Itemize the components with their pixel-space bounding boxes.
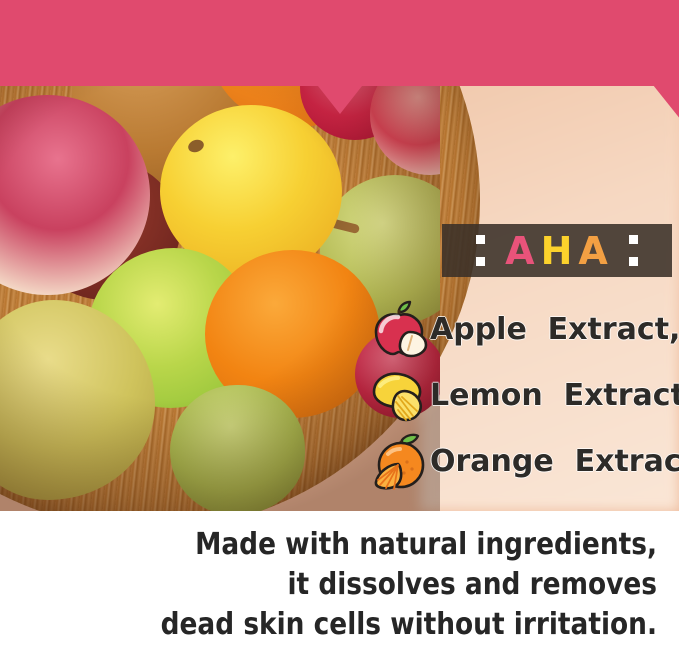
aha-letter-a1: A (505, 232, 535, 270)
description-block: Made with natural ingredients, it dissol… (0, 511, 679, 655)
dot-icon (629, 235, 638, 244)
dot-icon (629, 257, 638, 266)
list-item: Apple Extract, (368, 296, 679, 362)
aha-letters: A H A (505, 232, 609, 270)
aha-letter-h: H (541, 232, 574, 270)
ingredient-label: Orange Extract (430, 444, 679, 479)
list-item: Lemon Extract, (368, 362, 679, 428)
orange-icon (368, 432, 430, 490)
ingredient-label: Apple Extract, (430, 312, 679, 347)
description-line-1: Made with natural ingredients, (79, 525, 657, 565)
ingredient-label: Lemon Extract, (430, 378, 679, 413)
header-pointer-triangle (318, 86, 362, 114)
header-band (0, 0, 679, 86)
description-line-3: dead skin cells without irritation. (79, 605, 657, 645)
description-line-2: it dissolves and removes (79, 565, 657, 605)
dot-icon (476, 257, 485, 266)
green-pear-fruit-2 (170, 385, 305, 511)
ingredient-list: Apple Extract, Lemon Extract, (368, 296, 679, 494)
apple-icon (368, 300, 430, 358)
list-item: Orange Extract (368, 428, 679, 494)
lemon-icon (368, 366, 430, 424)
dot-icon (476, 235, 485, 244)
colon-right-icon (629, 235, 638, 266)
colon-left-icon (476, 235, 485, 266)
aha-badge: A H A (442, 224, 672, 277)
pink-corner-wedge (649, 80, 679, 130)
aha-letter-a2: A (578, 232, 608, 270)
aha-extract-banner: AHA Extract From natural fruits A H A (0, 0, 679, 655)
